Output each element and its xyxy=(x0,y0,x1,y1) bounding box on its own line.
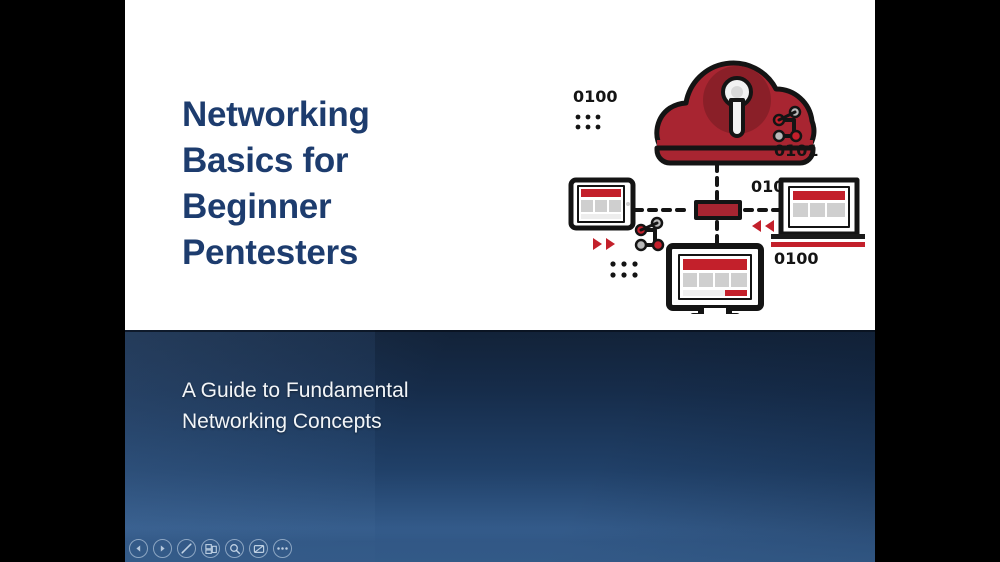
laptop-device xyxy=(771,180,865,247)
binary-label-lower-right: 0100 xyxy=(774,249,819,268)
triangle-right-icon xyxy=(158,544,167,553)
previous-slide-button[interactable] xyxy=(129,539,148,558)
router-block xyxy=(696,202,740,218)
subtitle-line-2: Networking Concepts xyxy=(182,406,622,437)
network-node-icon-center xyxy=(636,218,663,250)
arrow-markers-left xyxy=(593,238,615,250)
title-line-3: Beginner xyxy=(182,184,472,230)
pen-tools-button[interactable] xyxy=(177,539,196,558)
cloud-network-illustration: 0100 xyxy=(565,14,865,314)
zoom-button[interactable] xyxy=(225,539,244,558)
slide-subtitle: A Guide to Fundamental Networking Concep… xyxy=(182,375,622,437)
screen-off-icon xyxy=(253,543,265,555)
pen-icon xyxy=(180,542,193,555)
slide-upper-panel: Networking Basics for Beginner Pentester… xyxy=(125,0,875,330)
slide-title: Networking Basics for Beginner Pentester… xyxy=(182,92,472,276)
title-line-2: Basics for xyxy=(182,138,472,184)
triangle-left-icon xyxy=(134,544,143,553)
ellipsis-icon xyxy=(276,546,289,551)
magnifier-icon xyxy=(229,543,241,555)
desktop-monitor-device xyxy=(669,246,761,314)
subtitle-line-1: A Guide to Fundamental xyxy=(182,375,622,406)
slide-canvas[interactable]: Networking Basics for Beginner Pentester… xyxy=(125,0,875,562)
title-line-4: Pentesters xyxy=(182,230,472,276)
blackout-button[interactable] xyxy=(249,539,268,558)
slideshow-stage: Networking Basics for Beginner Pentester… xyxy=(0,0,1000,562)
more-options-button[interactable] xyxy=(273,539,292,558)
tablet-device xyxy=(571,180,633,228)
title-line-1: Networking xyxy=(182,92,472,138)
grid-slides-icon xyxy=(205,543,217,555)
next-slide-button[interactable] xyxy=(153,539,172,558)
binary-label-upper-left: 0100 xyxy=(573,87,618,106)
all-slides-button[interactable] xyxy=(201,539,220,558)
slide-lower-panel: A Guide to Fundamental Networking Concep… xyxy=(125,330,875,562)
dot-grid-upper-left xyxy=(576,115,601,130)
binary-label-0101: 0101 xyxy=(774,141,819,160)
slideshow-toolbar[interactable] xyxy=(129,539,292,558)
arrow-markers-right xyxy=(752,220,774,232)
dot-grid-lower-left xyxy=(610,261,637,277)
panel-divider xyxy=(125,330,875,332)
